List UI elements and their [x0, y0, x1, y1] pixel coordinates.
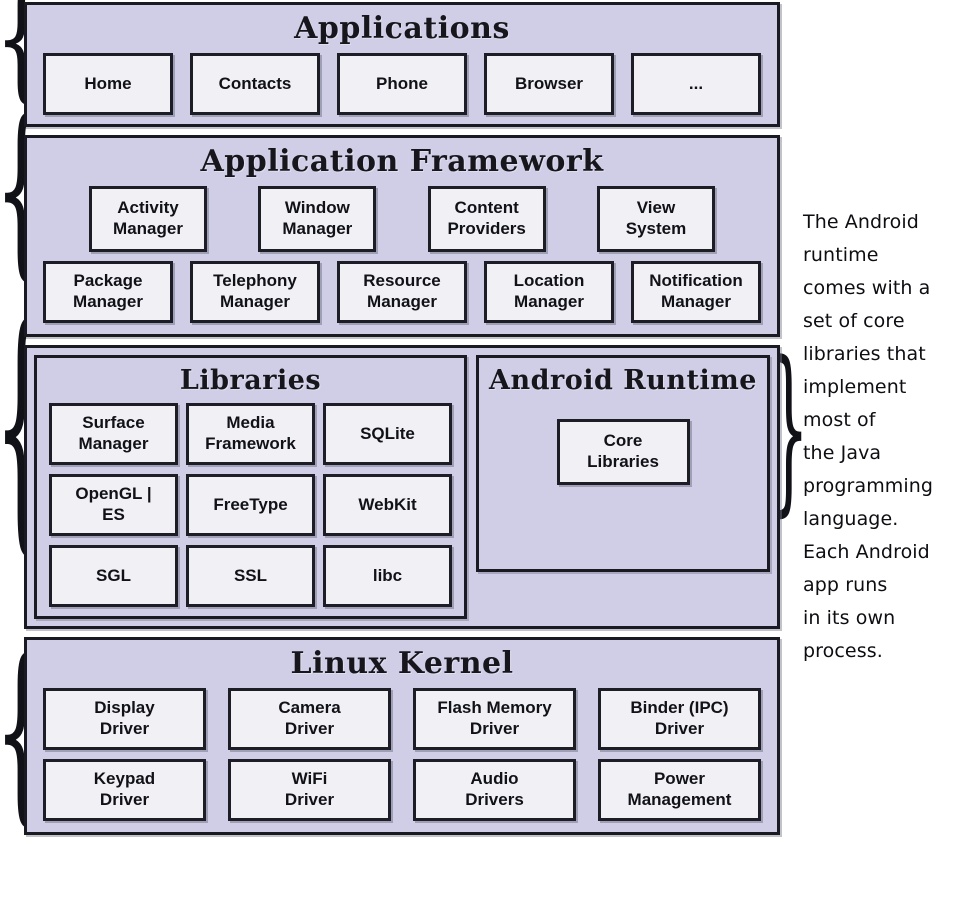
applications-row-1: Home Contacts Phone Browser ... [27, 53, 777, 115]
kernel-box-flash-memory-driver[interactable]: Flash MemoryDriver [413, 688, 576, 750]
annotation-line: the Java [803, 437, 955, 470]
architecture-stack: Applications Home Contacts Phone Browser… [24, 2, 780, 843]
framework-box-package-manager[interactable]: PackageManager [43, 261, 173, 323]
app-box-phone[interactable]: Phone [337, 53, 467, 115]
library-box-opengl-es[interactable]: OpenGL |ES [49, 474, 178, 536]
annotation-line: comes with a [803, 272, 955, 305]
kernel-row-1: DisplayDriver CameraDriver Flash MemoryD… [27, 688, 777, 750]
annotation-line: programming [803, 470, 955, 503]
app-box-home[interactable]: Home [43, 53, 173, 115]
layer-linux-kernel: Linux Kernel DisplayDriver CameraDriver … [24, 637, 780, 835]
kernel-box-power-management[interactable]: PowerManagement [598, 759, 761, 821]
android-runtime-row: CoreLibraries [479, 419, 767, 485]
android-runtime-title: Android Runtime [479, 358, 767, 403]
app-box-contacts[interactable]: Contacts [190, 53, 320, 115]
runtime-box-core-libraries[interactable]: CoreLibraries [557, 419, 690, 485]
libraries-row-1: SurfaceManager MediaFramework SQLite [37, 403, 464, 465]
framework-row-1: ActivityManager WindowManager ContentPro… [27, 186, 777, 252]
annotation-line: language. [803, 503, 955, 536]
kernel-box-display-driver[interactable]: DisplayDriver [43, 688, 206, 750]
framework-box-window-manager[interactable]: WindowManager [258, 186, 376, 252]
android-runtime-panel: Android Runtime CoreLibraries [476, 355, 770, 572]
kernel-box-binder-ipc-driver[interactable]: Binder (IPC)Driver [598, 688, 761, 750]
framework-box-notification-manager[interactable]: NotificationManager [631, 261, 761, 323]
library-box-sqlite[interactable]: SQLite [323, 403, 452, 465]
library-box-ssl[interactable]: SSL [186, 545, 315, 607]
kernel-box-keypad-driver[interactable]: KeypadDriver [43, 759, 206, 821]
framework-box-location-manager[interactable]: LocationManager [484, 261, 614, 323]
library-box-freetype[interactable]: FreeType [186, 474, 315, 536]
annotation-line: in its own [803, 602, 955, 635]
annotation-line: set of core [803, 305, 955, 338]
framework-row-2: PackageManager TelephonyManager Resource… [27, 261, 777, 323]
layer-applications: Applications Home Contacts Phone Browser… [24, 2, 780, 127]
kernel-box-camera-driver[interactable]: CameraDriver [228, 688, 391, 750]
library-box-webkit[interactable]: WebKit [323, 474, 452, 536]
layer-applications-title: Applications [27, 5, 777, 53]
libraries-title: Libraries [37, 358, 464, 403]
annotation-line: implement [803, 371, 955, 404]
runtime-annotation: The Android runtime comes with a set of … [803, 206, 955, 668]
framework-box-telephony-manager[interactable]: TelephonyManager [190, 261, 320, 323]
annotation-line: libraries that [803, 338, 955, 371]
annotation-line: Each Android [803, 536, 955, 569]
annotation-line: runtime [803, 239, 955, 272]
layer-application-framework: Application Framework ActivityManager Wi… [24, 135, 780, 337]
annotation-line: The Android [803, 206, 955, 239]
kernel-box-wifi-driver[interactable]: WiFiDriver [228, 759, 391, 821]
framework-box-view-system[interactable]: ViewSystem [597, 186, 715, 252]
framework-box-resource-manager[interactable]: ResourceManager [337, 261, 467, 323]
annotation-line: process. [803, 635, 955, 668]
libraries-row-2: OpenGL |ES FreeType WebKit [37, 474, 464, 536]
layer-linux-kernel-title: Linux Kernel [27, 640, 777, 688]
kernel-row-2: KeypadDriver WiFiDriver AudioDrivers Pow… [27, 759, 777, 821]
framework-box-activity-manager[interactable]: ActivityManager [89, 186, 207, 252]
library-box-media-framework[interactable]: MediaFramework [186, 403, 315, 465]
annotation-line: app runs [803, 569, 955, 602]
libraries-panel: Libraries SurfaceManager MediaFramework … [34, 355, 467, 619]
libraries-row-3: SGL SSL libc [37, 545, 464, 607]
kernel-box-audio-drivers[interactable]: AudioDrivers [413, 759, 576, 821]
framework-box-content-providers[interactable]: ContentProviders [428, 186, 546, 252]
app-box-more[interactable]: ... [631, 53, 761, 115]
library-box-sgl[interactable]: SGL [49, 545, 178, 607]
app-box-browser[interactable]: Browser [484, 53, 614, 115]
library-box-libc[interactable]: libc [323, 545, 452, 607]
annotation-line: most of [803, 404, 955, 437]
library-box-surface-manager[interactable]: SurfaceManager [49, 403, 178, 465]
layer-application-framework-title: Application Framework [27, 138, 777, 186]
libraries-runtime-split: Libraries SurfaceManager MediaFramework … [34, 355, 770, 619]
layer-libraries-runtime: Libraries SurfaceManager MediaFramework … [24, 345, 780, 629]
